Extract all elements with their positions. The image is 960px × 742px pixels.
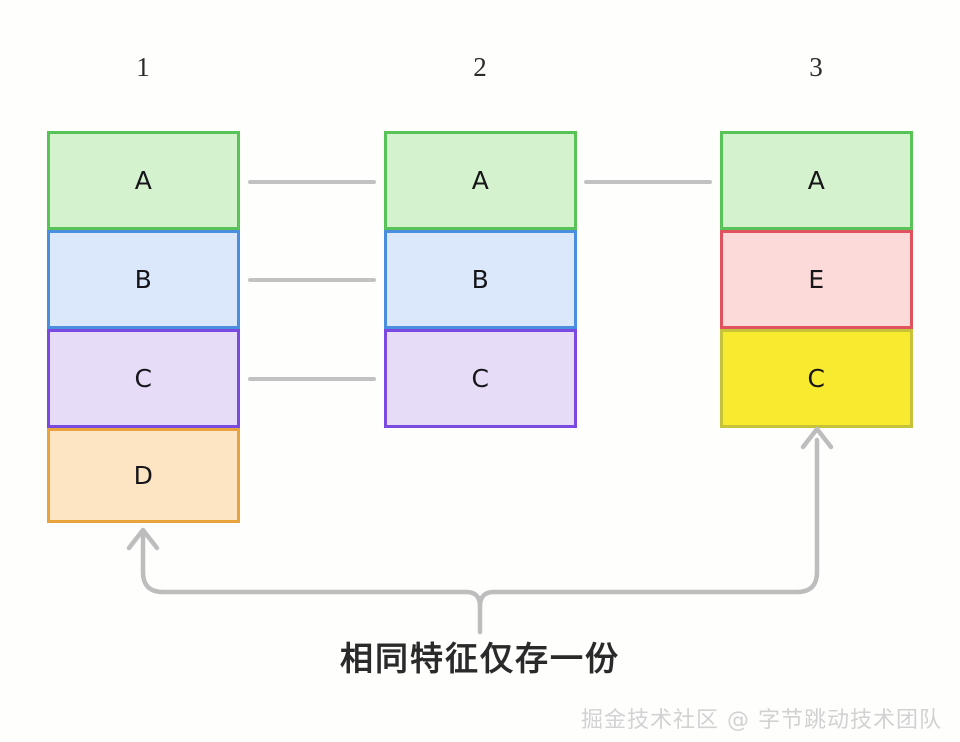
cell-col1-a[interactable]: A <box>47 131 240 230</box>
cell-col1-b[interactable]: B <box>47 230 240 329</box>
cell-col2-a[interactable]: A <box>384 131 577 230</box>
cell-col1-d[interactable]: D <box>47 428 240 523</box>
cell-col2-c[interactable]: C <box>384 329 577 428</box>
cell-col3-e[interactable]: E <box>720 230 913 329</box>
column-header-3: 3 <box>796 54 836 81</box>
link-col2-col3-row-a <box>584 180 712 184</box>
cell-col3-c[interactable]: C <box>720 329 913 428</box>
diagram-canvas: 1 2 3 A B C D A B C A E C <box>0 0 960 742</box>
column-header-2: 2 <box>460 54 500 81</box>
diagram-caption: 相同特征仅存一份 <box>0 632 960 680</box>
cell-col3-a[interactable]: A <box>720 131 913 230</box>
cell-col2-b[interactable]: B <box>384 230 577 329</box>
link-col1-col2-row-c <box>248 377 376 381</box>
watermark: 掘金技术社区 @ 字节跳动技术团队 <box>581 702 942 734</box>
link-col1-col2-row-b <box>248 278 376 282</box>
column-header-1: 1 <box>123 54 163 81</box>
cell-col1-c[interactable]: C <box>47 329 240 428</box>
link-col1-col2-row-a <box>248 180 376 184</box>
